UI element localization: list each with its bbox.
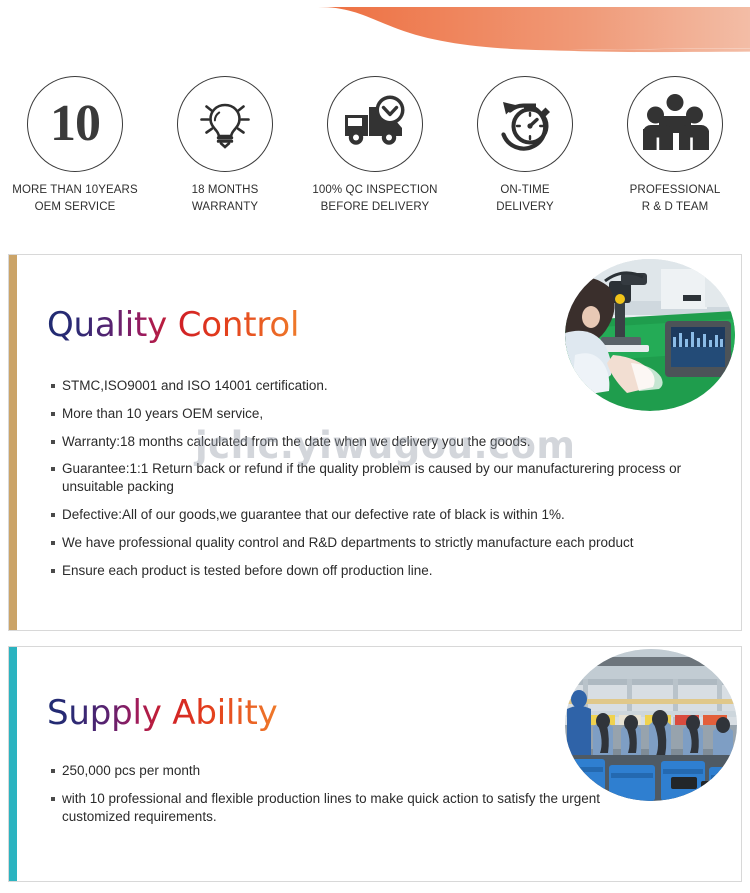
jucai-logo: JUCAI ® 巨才 bbox=[14, 14, 92, 52]
list-item: Defective:All of our goods,we guarantee … bbox=[51, 506, 711, 524]
quality-control-card: Quality Control STMC,ISO9001 and ISO 140… bbox=[8, 254, 742, 631]
feature-item-on-time-delivery: ON-TIME DELIVERY bbox=[450, 76, 600, 215]
quality-control-bullets: STMC,ISO9001 and ISO 14001 certification… bbox=[51, 377, 711, 590]
feature-label-line1: MORE THAN 10YEARS bbox=[12, 182, 137, 199]
bullet-dot-icon bbox=[51, 467, 55, 471]
list-item: 250,000 pcs per month bbox=[51, 762, 611, 780]
feature-label-line2: R & D TEAM bbox=[630, 199, 721, 216]
bullet-dot-icon bbox=[51, 769, 55, 773]
list-item-text: STMC,ISO9001 and ISO 14001 certification… bbox=[62, 377, 711, 395]
feature-label-line1: PROFESSIONAL bbox=[630, 182, 721, 199]
feature-label: MORE THAN 10YEARS OEM SERVICE bbox=[12, 182, 137, 215]
feature-label: 18 MONTHS WARRANTY bbox=[192, 182, 259, 215]
list-item: More than 10 years OEM service, bbox=[51, 405, 711, 423]
list-item: We have professional quality control and… bbox=[51, 534, 711, 552]
list-item-text: Warranty:18 months calculated from the d… bbox=[62, 433, 711, 451]
feature-label-line1: ON-TIME bbox=[496, 182, 553, 199]
logo-registered-mark: ® bbox=[88, 24, 93, 31]
banner-title: WHY CHOOSE JUCAI bbox=[118, 22, 330, 44]
feature-label-line1: 100% QC INSPECTION bbox=[312, 182, 437, 199]
logo-chinese-name: 巨才 bbox=[33, 39, 73, 50]
list-item-text: with 10 professional and flexible produc… bbox=[62, 790, 611, 826]
list-item: Warranty:18 months calculated from the d… bbox=[51, 433, 711, 451]
team-people-icon bbox=[627, 76, 723, 172]
feature-label-line2: OEM SERVICE bbox=[12, 199, 137, 216]
feature-item-rd-team: PROFESSIONAL R & D TEAM bbox=[600, 76, 750, 215]
feature-item-qc-inspection: 100% QC INSPECTION BEFORE DELIVERY bbox=[300, 76, 450, 215]
list-item: Ensure each product is tested before dow… bbox=[51, 562, 711, 580]
feature-item-warranty: 18 MONTHS WARRANTY bbox=[150, 76, 300, 215]
bullet-dot-icon bbox=[51, 440, 55, 444]
header-banner: JUCAI ® 巨才 WHY CHOOSE JUCAI bbox=[0, 7, 750, 59]
list-item-text: More than 10 years OEM service, bbox=[62, 405, 711, 423]
bullet-dot-icon bbox=[51, 513, 55, 517]
feature-label: PROFESSIONAL R & D TEAM bbox=[630, 182, 721, 215]
bullet-dot-icon bbox=[51, 541, 55, 545]
list-item-text: Ensure each product is tested before dow… bbox=[62, 562, 711, 580]
list-item-text: 250,000 pcs per month bbox=[62, 762, 611, 780]
feature-item-oem-service: 10 MORE THAN 10YEARS OEM SERVICE bbox=[0, 76, 150, 215]
feature-label: ON-TIME DELIVERY bbox=[496, 182, 553, 215]
bullet-dot-icon bbox=[51, 797, 55, 801]
list-item-text: Guarantee:1:1 Return back or refund if t… bbox=[62, 460, 711, 496]
supply-ability-card: Supply Ability 250,000 pcs per month wit… bbox=[8, 646, 742, 882]
lightbulb-icon bbox=[177, 76, 273, 172]
supply-ability-heading: Supply Ability bbox=[47, 693, 278, 733]
list-item-text: Defective:All of our goods,we guarantee … bbox=[62, 506, 711, 524]
delivery-truck-check-icon bbox=[327, 76, 423, 172]
page-root: JUCAI ® 巨才 WHY CHOOSE JUCAI 10 MORE THAN… bbox=[0, 0, 750, 893]
stopwatch-icon bbox=[477, 76, 573, 172]
feature-label-line2: WARRANTY bbox=[192, 199, 259, 216]
number-10-label: 10 bbox=[50, 98, 100, 150]
feature-strip: 10 MORE THAN 10YEARS OEM SERVICE bbox=[0, 76, 750, 215]
supply-ability-accent-bar bbox=[9, 647, 17, 881]
bullet-dot-icon bbox=[51, 384, 55, 388]
number-10-icon: 10 bbox=[27, 76, 123, 172]
list-item-text: We have professional quality control and… bbox=[62, 534, 711, 552]
quality-control-heading: Quality Control bbox=[47, 305, 299, 345]
bullet-dot-icon bbox=[51, 569, 55, 573]
feature-label-line2: BEFORE DELIVERY bbox=[312, 199, 437, 216]
feature-label-line1: 18 MONTHS bbox=[192, 182, 259, 199]
list-item: STMC,ISO9001 and ISO 14001 certification… bbox=[51, 377, 711, 395]
supply-ability-bullets: 250,000 pcs per month with 10 profession… bbox=[51, 762, 611, 835]
quality-control-accent-bar bbox=[9, 255, 17, 630]
feature-label: 100% QC INSPECTION BEFORE DELIVERY bbox=[312, 182, 437, 215]
feature-label-line2: DELIVERY bbox=[496, 199, 553, 216]
bullet-dot-icon bbox=[51, 412, 55, 416]
list-item: with 10 professional and flexible produc… bbox=[51, 790, 611, 826]
logo-wordmark: JUCAI bbox=[25, 17, 87, 38]
list-item: Guarantee:1:1 Return back or refund if t… bbox=[51, 460, 711, 496]
